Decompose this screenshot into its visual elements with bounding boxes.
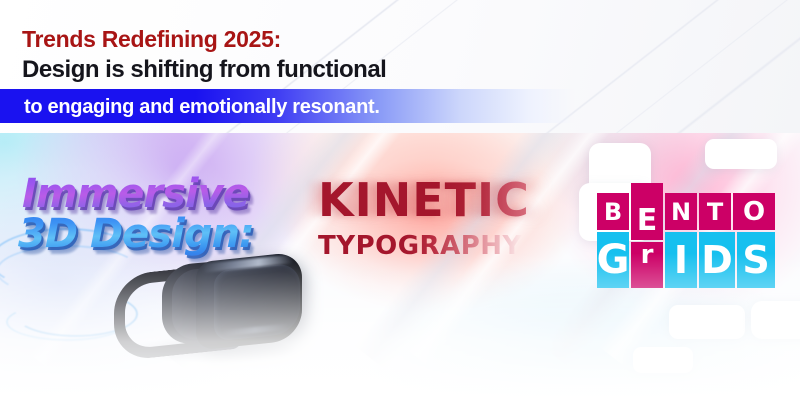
bento-tile-i: I xyxy=(665,232,697,288)
bento-tile-s: S xyxy=(737,232,775,288)
bento-white-card xyxy=(633,347,693,373)
vr-cable-icon xyxy=(6,303,128,341)
headline-primary: Design is shifting from functional xyxy=(22,56,386,84)
bento-white-card xyxy=(669,305,745,339)
bento-tile-e: E xyxy=(631,183,663,240)
header-streak-icon xyxy=(635,0,800,133)
panel-kinetic-typography: KINETIC KINETIC KINETIC KINETIC KINETIC … xyxy=(300,133,565,400)
hero-section: Immersive Immersive 3D Design: 3D Design… xyxy=(0,133,800,400)
header-streak-icon xyxy=(576,0,800,133)
bento-tile-b: B xyxy=(597,193,629,230)
headline-secondary: to engaging and emotionally resonant. xyxy=(24,96,380,119)
bento-tile-d: D xyxy=(699,232,735,288)
bento-white-card xyxy=(751,301,800,339)
bento-white-card xyxy=(705,139,777,169)
bento-tile-o: O xyxy=(733,193,775,230)
panel-immersive-3d-design: Immersive Immersive 3D Design: 3D Design… xyxy=(0,133,300,400)
bento-tile-g: G xyxy=(597,232,629,288)
kinetic-headline: KINETIC xyxy=(318,173,530,227)
bento-tile-r: r xyxy=(631,242,663,288)
typography-headline: TYPOGRAPHY xyxy=(318,231,522,261)
vr-headset-illustration xyxy=(110,251,310,371)
panel-bento-grids: B E N T O G r I D S xyxy=(565,133,800,400)
headline-eyebrow: Trends Redefining 2025: xyxy=(22,26,281,53)
kinetic-word-group: KINETIC KINETIC KINETIC KINETIC KINETIC … xyxy=(300,163,565,303)
bento-tile-n: N xyxy=(665,193,697,230)
poster-canvas: Trends Redefining 2025: Design is shifti… xyxy=(0,0,800,400)
bento-tile-t: T xyxy=(699,193,731,230)
header-banner: Trends Redefining 2025: Design is shifti… xyxy=(0,0,800,133)
